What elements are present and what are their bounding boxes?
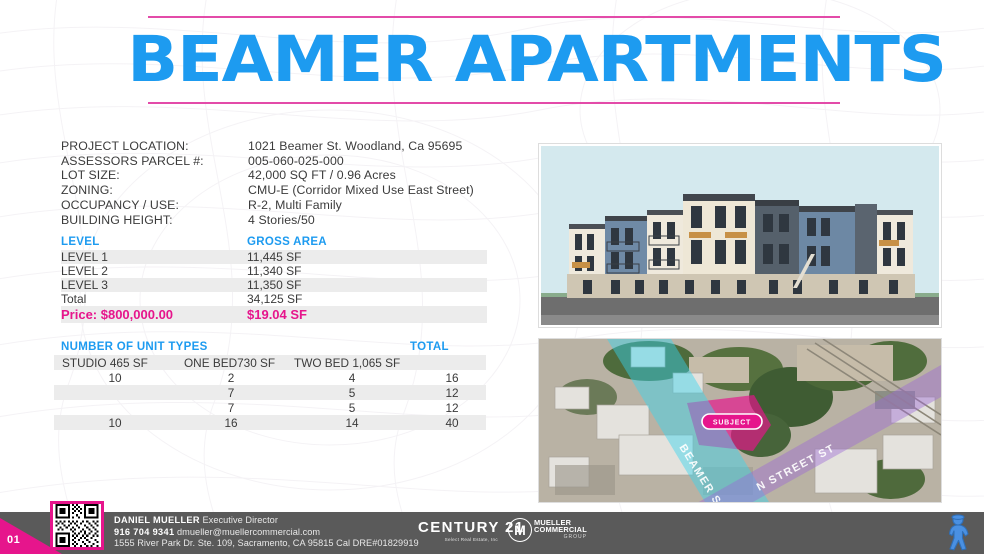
cell-total: 40 (418, 415, 486, 430)
spec-value: 4 Stories/50 (248, 213, 511, 228)
spec-row: PROJECT LOCATION: 1021 Beamer St. Woodla… (61, 139, 511, 154)
spec-row: ASSESSORS PARCEL #: 005-060-025-000 (61, 154, 511, 169)
cell-level: LEVEL 3 (61, 278, 247, 292)
agent-name: DANIEL MUELLER (114, 515, 200, 525)
cell-area: 11,445 SF (247, 250, 487, 264)
cell-studio: 10 (54, 415, 176, 430)
cell-area: 34,125 SF (247, 292, 487, 306)
spec-row: OCCUPANCY / USE: R-2, Multi Family (61, 198, 511, 213)
table-row: LEVEL 3 11,350 SF (61, 278, 487, 292)
svg-text:SUBJECT: SUBJECT (713, 420, 751, 427)
cell-level: LEVEL 1 (61, 250, 247, 264)
spec-row: LOT SIZE: 42,000 SQ FT / 0.96 Acres (61, 168, 511, 183)
cell-one-bed: 2 (176, 370, 286, 385)
flyer-page: BEAMER APARTMENTS PROJECT LOCATION: 1021… (0, 0, 984, 554)
table-row: LEVEL 1 11,445 SF (61, 250, 487, 264)
cell-one-bed: 16 (176, 415, 286, 430)
unit-types-heading: NUMBER OF UNIT TYPES (61, 341, 208, 353)
mueller-line-2: COMMERCIAL (534, 526, 587, 534)
spec-value: 42,000 SQ FT / 0.96 Acres (248, 168, 511, 183)
cell-studio (54, 400, 176, 415)
cell-studio: 10 (54, 370, 176, 385)
spec-row: ZONING: CMU-E (Corridor Mixed Use East S… (61, 183, 511, 198)
cell-total: 12 (418, 400, 486, 415)
column-header-two-bed: TWO BED 1,065 SF (286, 355, 418, 370)
table-row: 10 2 4 16 (54, 370, 486, 385)
cell-area: 11,350 SF (247, 278, 487, 292)
cell-two-bed: 14 (286, 415, 418, 430)
unit-types-total-heading: TOTAL (410, 341, 449, 353)
spec-value: 005-060-025-000 (248, 154, 511, 169)
cell-level: LEVEL 2 (61, 264, 247, 278)
cell-two-bed: 5 (286, 400, 418, 415)
mueller-line-3: GROUP (534, 534, 587, 542)
column-header-level: LEVEL (61, 234, 247, 250)
spec-label: LOT SIZE: (61, 168, 248, 183)
page-number: 01 (7, 534, 20, 546)
agent-address: 1555 River Park Dr. Ste. 109, Sacramento… (114, 538, 419, 550)
project-specs: PROJECT LOCATION: 1021 Beamer St. Woodla… (61, 139, 511, 227)
column-header-one-bed: ONE BED730 SF (176, 355, 286, 370)
mueller-commercial-logo: M MUELLER COMMERCIAL GROUP (508, 518, 587, 542)
mueller-wordmark: MUELLER COMMERCIAL GROUP (534, 519, 587, 542)
spec-value: 1021 Beamer St. Woodland, Ca 95695 (248, 139, 511, 154)
street-view-pegman-icon[interactable] (941, 513, 975, 551)
spec-label: ASSESSORS PARCEL #: (61, 154, 248, 169)
spec-label: BUILDING HEIGHT: (61, 213, 248, 228)
agent-email[interactable]: dmueller@muellercommercial.com (177, 527, 320, 537)
cell-total: 16 (418, 370, 486, 385)
column-header-studio: STUDIO 465 SF (54, 355, 176, 370)
column-header-total (418, 355, 486, 370)
contact-block: DANIEL MUELLER Executive Director 916 70… (114, 515, 419, 550)
column-header-gross-area: GROSS AREA (247, 234, 487, 250)
cell-total: 12 (418, 385, 486, 400)
cell-price-per-sf: $19.04 SF (247, 306, 487, 323)
cell-price: Price: $800,000.00 (61, 306, 247, 323)
page-title: BEAMER APARTMENTS (127, 18, 861, 102)
spec-label: ZONING: (61, 183, 248, 198)
table-row: Total 34,125 SF (61, 292, 487, 306)
aerial-site-map-image: BEAMER ST N STREET ST SUBJECT (538, 338, 942, 503)
qr-code[interactable] (50, 501, 104, 550)
agent-phone[interactable]: 916 704 9341 (114, 527, 174, 537)
table-row: 7 5 12 (54, 385, 486, 400)
table-row: 7 5 12 (54, 400, 486, 415)
title-rule-bottom (148, 102, 840, 104)
cell-studio (54, 385, 176, 400)
subject-marker: SUBJECT (702, 414, 762, 429)
gross-area-table: LEVEL GROSS AREA LEVEL 1 11,445 SF LEVEL… (61, 234, 487, 323)
agent-line: DANIEL MUELLER Executive Director (114, 515, 419, 527)
building-rendering-image (538, 143, 942, 328)
spec-row: BUILDING HEIGHT: 4 Stories/50 (61, 213, 511, 228)
spec-label: OCCUPANCY / USE: (61, 198, 248, 213)
table-row: LEVEL 2 11,340 SF (61, 264, 487, 278)
cell-one-bed: 7 (176, 385, 286, 400)
mueller-m-mark: M (508, 518, 532, 542)
table-row-totals: 10 16 14 40 (54, 415, 486, 430)
spec-value: R-2, Multi Family (248, 198, 511, 213)
table-header-row: LEVEL GROSS AREA (61, 234, 487, 250)
unit-types-table: STUDIO 465 SF ONE BED730 SF TWO BED 1,06… (54, 355, 486, 430)
cell-area: 11,340 SF (247, 264, 487, 278)
table-header-row: STUDIO 465 SF ONE BED730 SF TWO BED 1,06… (54, 355, 486, 370)
cell-two-bed: 5 (286, 385, 418, 400)
cell-two-bed: 4 (286, 370, 418, 385)
contact-phone-email-line: 916 704 9341 dmueller@muellercommercial.… (114, 527, 419, 539)
title-block: BEAMER APARTMENTS (148, 16, 840, 104)
spec-label: PROJECT LOCATION: (61, 139, 248, 154)
cell-one-bed: 7 (176, 400, 286, 415)
cell-level: Total (61, 292, 247, 306)
agent-title: Executive Director (203, 515, 278, 525)
table-row-price: Price: $800,000.00 $19.04 SF (61, 306, 487, 323)
spec-value: CMU-E (Corridor Mixed Use East Street) (248, 183, 511, 198)
